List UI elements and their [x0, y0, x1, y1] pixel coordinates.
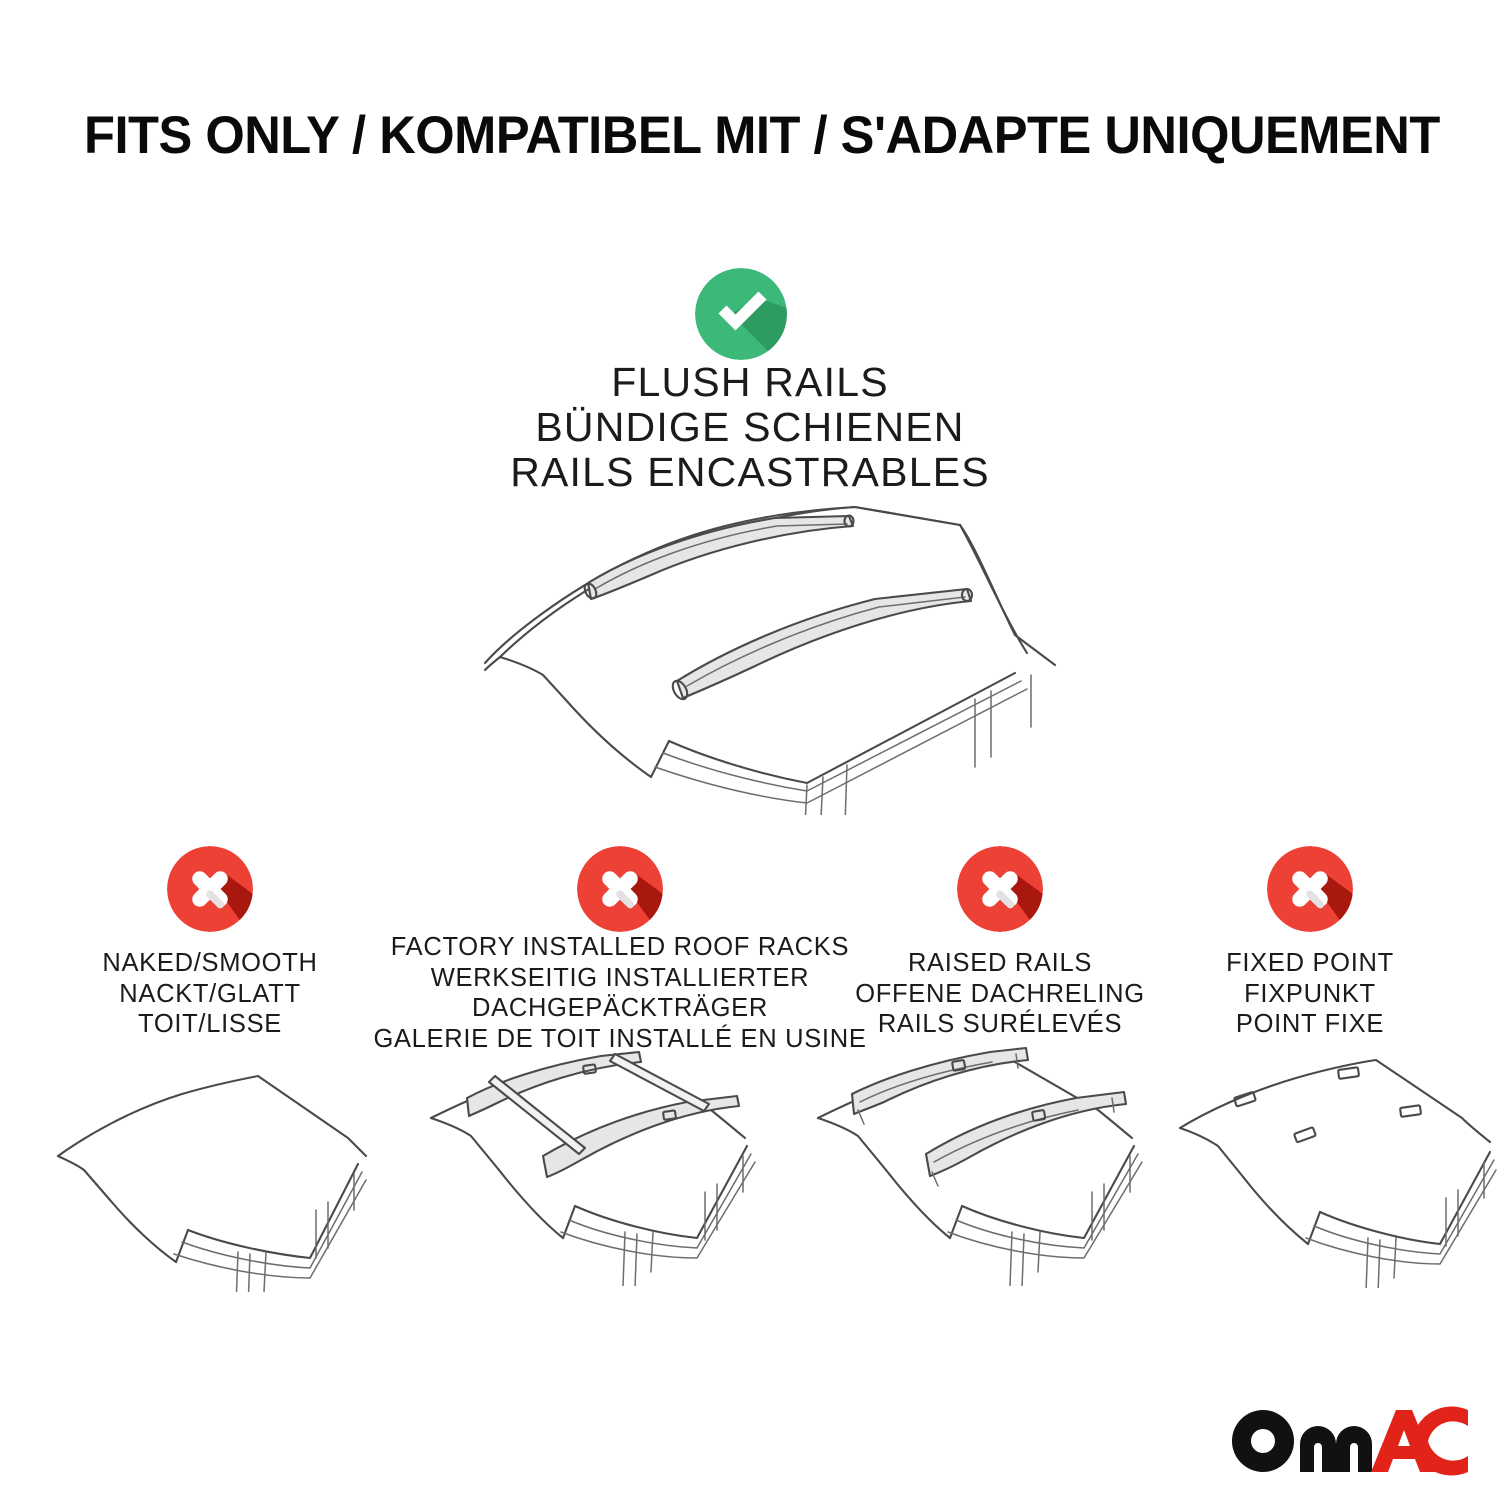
label-line: NAKED/SMOOTH: [20, 948, 400, 979]
incompatible-label-fixed-point: FIXED POINT FIXPUNKT POINT FIXE: [1140, 948, 1480, 1040]
label-line: WERKSEITIG INSTALLIERTER: [370, 963, 870, 994]
compatible-label-line-1: FLUSH RAILS: [380, 360, 1120, 405]
label-line: TOIT/LISSE: [20, 1009, 400, 1040]
compatible-label-line-2: BÜNDIGE SCHIENEN: [380, 405, 1120, 450]
car-roof-factory-roof-racks-illustration: [425, 1046, 775, 1286]
car-roof-raised-rails-illustration: [812, 1046, 1162, 1286]
x-circle-icon: [957, 846, 1043, 932]
car-roof-fixed-point-illustration: [1172, 1048, 1497, 1288]
incompatible-label-factory-roof-racks: FACTORY INSTALLED ROOF RACKS WERKSEITIG …: [370, 932, 870, 1054]
label-line: NACKT/GLATT: [20, 979, 400, 1010]
car-roof-flush-rails-illustration: [455, 485, 1075, 815]
incompatible-label-naked-smooth: NAKED/SMOOTH NACKT/GLATT TOIT/LISSE: [20, 948, 400, 1040]
car-roof-naked-smooth-illustration: [48, 1052, 378, 1292]
omac-logo: [1232, 1404, 1470, 1478]
label-line: DACHGEPÄCKTRÄGER: [370, 993, 870, 1024]
label-line: FACTORY INSTALLED ROOF RACKS: [370, 932, 870, 963]
compatible-text-block: FLUSH RAILS BÜNDIGE SCHIENEN RAILS ENCAS…: [380, 360, 1120, 495]
page-title: FITS ONLY / KOMPATIBEL MIT / S'ADAPTE UN…: [84, 106, 1364, 166]
x-circle-icon: [577, 846, 663, 932]
x-circle-icon: [167, 846, 253, 932]
x-circle-icon: [1267, 846, 1353, 932]
label-line: FIXED POINT: [1140, 948, 1480, 979]
label-line: FIXPUNKT: [1140, 979, 1480, 1010]
check-circle-icon: [695, 268, 787, 360]
label-line: POINT FIXE: [1140, 1009, 1480, 1040]
